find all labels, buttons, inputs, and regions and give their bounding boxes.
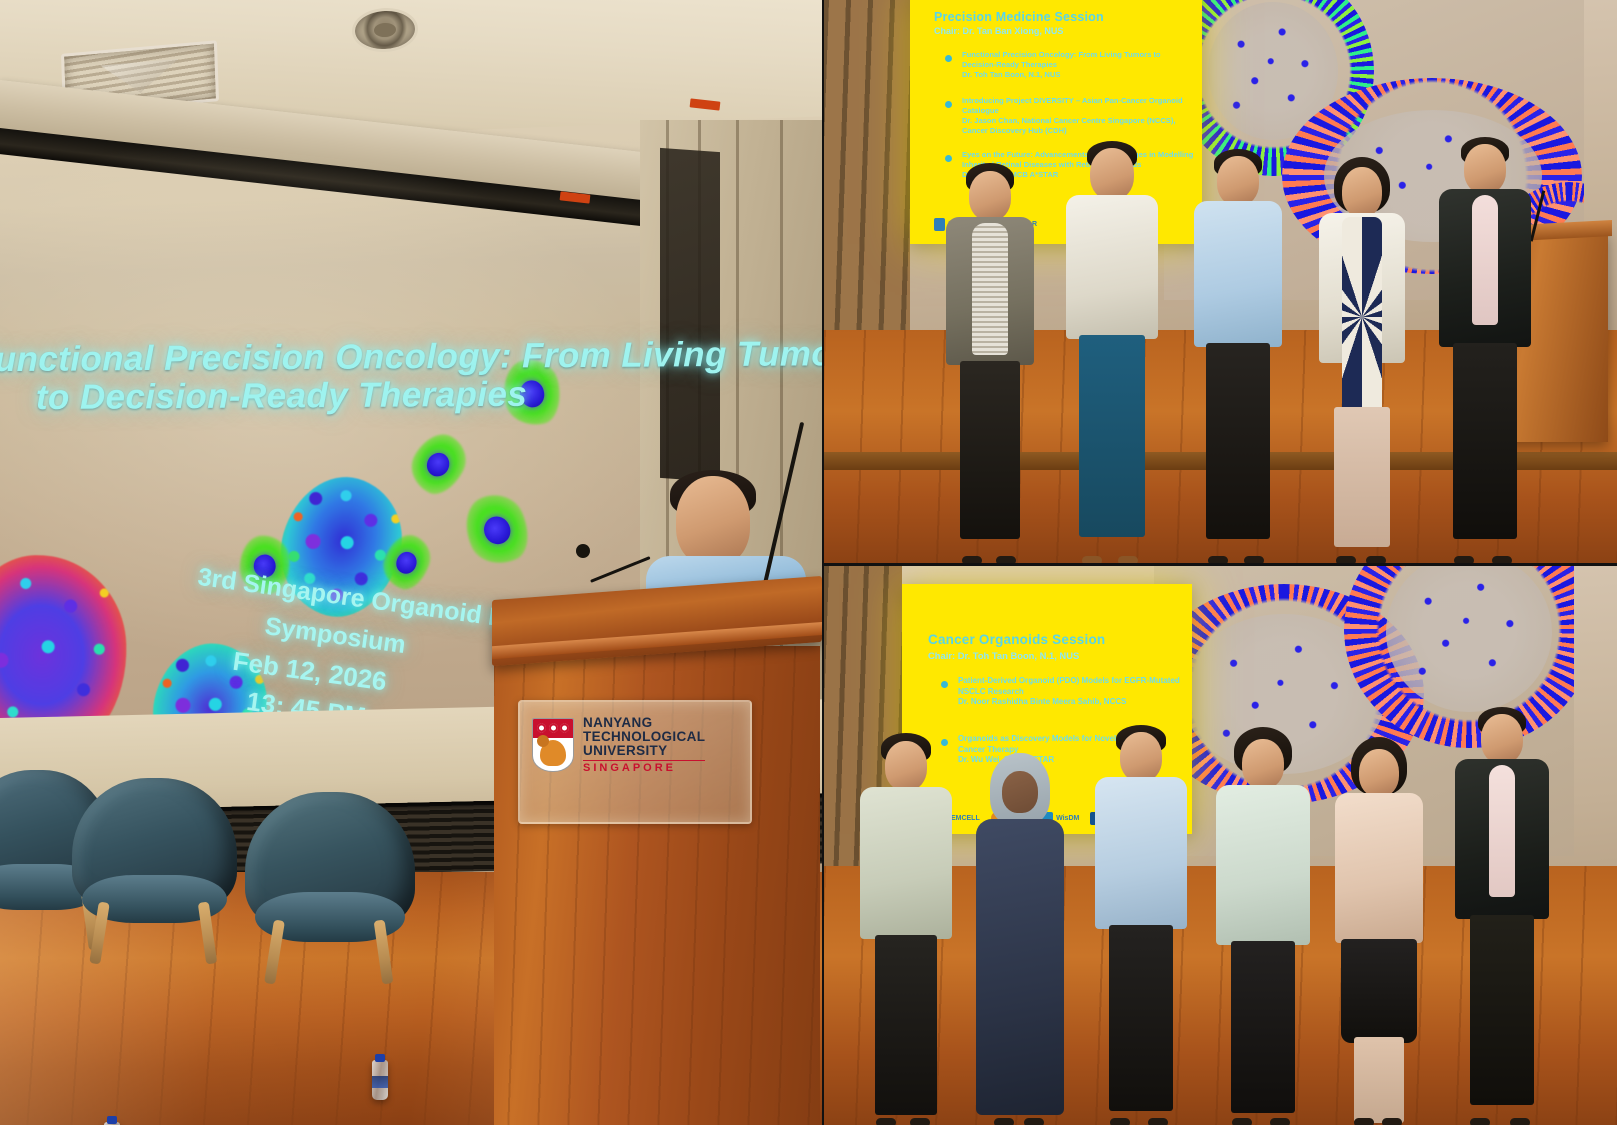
slide-session-chair: Chair: Dr. Toh Tan Boon, N.1, NUS <box>928 650 1079 661</box>
slide-session-chair: Chair: Dr. Tan Ban Xiong, NUS <box>934 26 1063 36</box>
group-member <box>972 753 1068 1125</box>
group-member <box>858 733 954 1125</box>
panel-cancer-organoids-group: Cancer Organoids Session Chair: Dr. Toh … <box>824 566 1617 1125</box>
stage-chair <box>245 792 415 984</box>
group-member <box>1436 137 1534 563</box>
group-member <box>1092 725 1190 1125</box>
stage-chair <box>72 778 237 964</box>
ntu-crest-icon <box>532 718 574 772</box>
group-member <box>1190 149 1286 563</box>
photo-collage: Functional Precision Oncology: From Livi… <box>0 0 1617 1125</box>
bullet-speaker: Dr. Toh Tan Boon, N.1, NUS <box>962 70 1188 80</box>
group-member <box>1214 727 1312 1125</box>
panel-auditorium-talk: Functional Precision Oncology: From Livi… <box>0 0 822 1125</box>
bullet-dot-icon <box>945 55 952 62</box>
slide-bullet: Patient-Derived Organoid (PDO) Models fo… <box>958 676 1180 708</box>
bullet-speaker: Dr. Jason Chan, National Cancer Centre S… <box>962 116 1194 136</box>
group-member <box>1314 157 1410 563</box>
slide-bullet: Introducing Project DIVERSITY – Asian Pa… <box>962 96 1194 136</box>
ntu-logo-plaque: NANYANG TECHNOLOGICAL UNIVERSITY SINGAPO… <box>518 700 752 824</box>
slide-bullet: Functional Precision Oncology: From Livi… <box>962 50 1188 80</box>
bullet-dot-icon <box>941 681 948 688</box>
bullet-talk-title: Introducing Project DIVERSITY – Asian Pa… <box>962 96 1194 116</box>
water-bottle <box>372 1060 388 1100</box>
slide-session-title: Precision Medicine Session <box>934 10 1104 24</box>
group-member <box>1332 737 1426 1125</box>
slide-title-line2: to Decision-Ready Therapies <box>36 375 527 418</box>
bullet-dot-icon <box>945 155 952 162</box>
lectern: NANYANG TECHNOLOGICAL UNIVERSITY SINGAPO… <box>492 588 822 1125</box>
slide-title-line1: Functional Precision Oncology: From Livi… <box>0 334 822 380</box>
group-member <box>1062 141 1162 563</box>
ntu-singapore-label: SINGAPORE <box>583 760 705 775</box>
ntu-name-line3: UNIVERSITY <box>583 744 705 758</box>
slide-session-title: Cancer Organoids Session <box>928 632 1105 647</box>
microphone-icon <box>576 544 590 558</box>
ntu-name-line1: NANYANG <box>583 716 705 730</box>
bullet-dot-icon <box>945 101 952 108</box>
bullet-speaker: Dr. Noor Rashidha Binte Meera Sahib, NCC… <box>958 697 1180 708</box>
bullet-talk-title: Functional Precision Oncology: From Livi… <box>962 50 1188 70</box>
bullet-talk-title: Patient-Derived Organoid (PDO) Models fo… <box>958 676 1180 697</box>
group-member <box>944 163 1036 563</box>
panel-precision-medicine-group: Precision Medicine Session Chair: Dr. Ta… <box>824 0 1617 563</box>
ntu-name-line2: TECHNOLOGICAL <box>583 730 705 744</box>
group-member <box>1452 707 1552 1125</box>
